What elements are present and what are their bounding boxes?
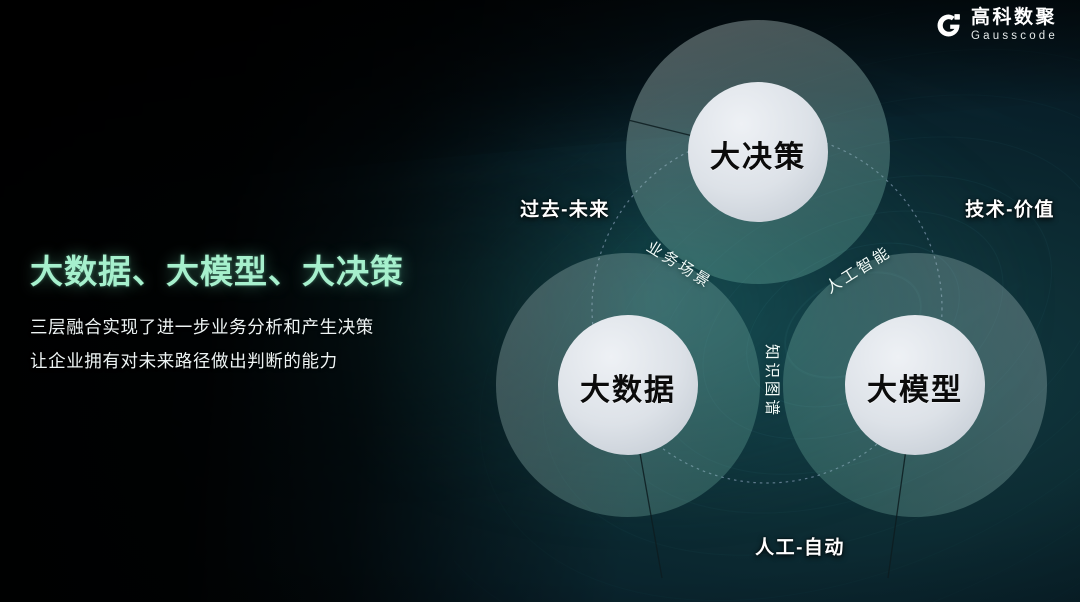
venn-diagram: 大决策 大数据 大模型 业务场景 人工智能 知识图谱 过去-未来 技术-价值 人… (490, 18, 1050, 578)
subtitle-line-2: 让企业拥有对未来路径做出判断的能力 (30, 344, 470, 378)
copy-block: 大数据、大模型、大决策 三层融合实现了进一步业务分析和产生决策 让企业拥有对未来… (30, 252, 470, 378)
venn-label-left: 大数据 (580, 365, 676, 409)
venn-intersection-knowledge-graph: 知识图谱 (762, 344, 784, 418)
axis-label-tech-value: 技术-价值 (965, 195, 1055, 222)
subtitle-line-1: 三层融合实现了进一步业务分析和产生决策 (30, 310, 470, 344)
axis-label-past-future: 过去-未来 (520, 195, 610, 222)
venn-svg (490, 18, 1050, 578)
page-title: 大数据、大模型、大决策 (30, 252, 470, 292)
venn-label-top: 大决策 (710, 132, 806, 176)
slide-canvas: 高科数聚 Gausscode 大数据、大模型、大决策 三层融合实现了进一步业务分… (0, 0, 1080, 602)
venn-label-right: 大模型 (867, 365, 963, 409)
axis-label-manual-auto: 人工-自动 (755, 533, 845, 560)
